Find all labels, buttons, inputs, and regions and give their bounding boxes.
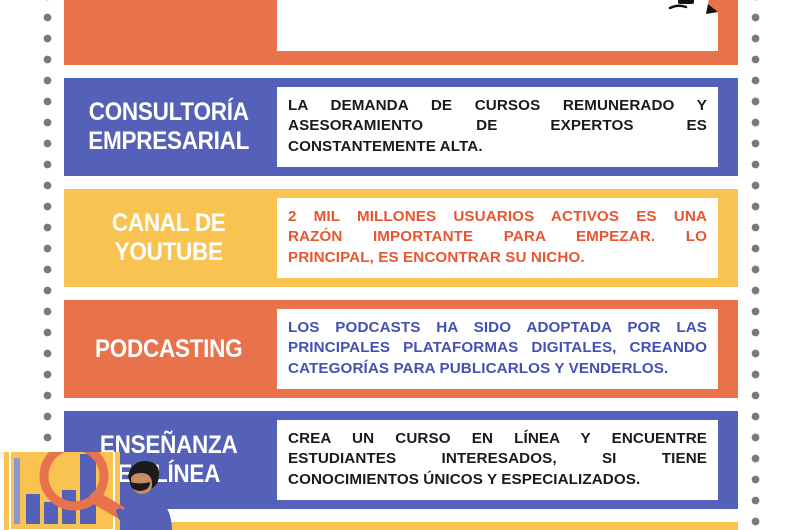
- dotted-border-right: [751, 0, 760, 530]
- row-canal-de-youtube-description: 2 MIL MILLONES USUARIOS ACTIVOS ES UNARA…: [277, 198, 718, 278]
- row-consultoria-empresarial: CONSULTORÍA EMPRESARIALLA DEMANDA DE CUR…: [64, 78, 738, 176]
- row-consultoria-empresarial-description-line: LA DEMANDA DE CURSOS REMUNERADO Y: [288, 96, 707, 116]
- row-ensenanza-en-linea: ENSEÑANZA EN LÍNEACREA UN CURSO EN LÍNEA…: [64, 411, 738, 509]
- row-podcasting-label: PODCASTING: [75, 335, 267, 364]
- row-podcasting-description-line: LOS PODCASTS HA SIDO ADOPTADA POR LAS: [288, 318, 707, 338]
- row-canal-de-youtube-description-line: RAZÓN IMPORTANTE PARA EMPEZAR. LO: [288, 227, 707, 247]
- row-ensenanza-en-linea-label: ENSEÑANZA EN LÍNEA: [75, 431, 267, 489]
- row-podcasting-description: LOS PODCASTS HA SIDO ADOPTADA POR LASPRI…: [277, 309, 718, 389]
- row-consultoria-empresarial-description-line: ASESORAMIENTO DE EXPERTOS ES: [288, 116, 707, 136]
- row-canal-de-youtube-description-line: 2 MIL MILLONES USUARIOS ACTIVOS ES UNA: [288, 207, 707, 227]
- row-consultoria-empresarial-description-line: CONSTANTEMENTE ALTA.: [288, 137, 707, 157]
- row-ensenanza-en-linea-description: CREA UN CURSO EN LÍNEA Y ENCUENTREESTUDI…: [277, 420, 718, 500]
- infographic-page: CONSULTORÍA EMPRESARIALLA DEMANDA DE CUR…: [0, 0, 800, 530]
- row-ensenanza-en-linea-description-line: CREA UN CURSO EN LÍNEA Y ENCUENTRE: [288, 429, 707, 449]
- row-consultoria-empresarial-label: CONSULTORÍA EMPRESARIAL: [75, 98, 267, 156]
- row-podcasting-description-line: CATEGORÍAS PARA PUBLICARLOS Y VENDERLOS.: [288, 359, 707, 379]
- row-clipped-top: [64, 0, 738, 65]
- row-canal-de-youtube-label: CANAL DE YOUTUBE: [75, 209, 267, 267]
- row-consultoria-empresarial-description: LA DEMANDA DE CURSOS REMUNERADO YASESORA…: [277, 87, 718, 167]
- row-canal-de-youtube-description-line: PRINCIPAL, ES ENCONTRAR SU NICHO.: [288, 248, 707, 268]
- row-clipped-top-description: [277, 0, 718, 51]
- row-ensenanza-en-linea-description-line: CONOCIMIENTOS ÚNICOS Y ESPECIALIZADOS.: [288, 470, 707, 490]
- row-podcasting: PODCASTINGLOS PODCASTS HA SIDO ADOPTADA …: [64, 300, 738, 398]
- row-ensenanza-en-linea-description-line: ESTUDIANTES INTERESADOS, SI TIENE: [288, 449, 707, 469]
- category-row-list: CONSULTORÍA EMPRESARIALLA DEMANDA DE CUR…: [64, 0, 738, 530]
- dotted-border-left: [43, 0, 52, 530]
- row-canal-de-youtube: CANAL DE YOUTUBE2 MIL MILLONES USUARIOS …: [64, 189, 738, 287]
- row-clipped-bottom: [64, 522, 738, 530]
- row-podcasting-description-line: PRINCIPALES PLATAFORMAS DIGITALES, CREAN…: [288, 338, 707, 358]
